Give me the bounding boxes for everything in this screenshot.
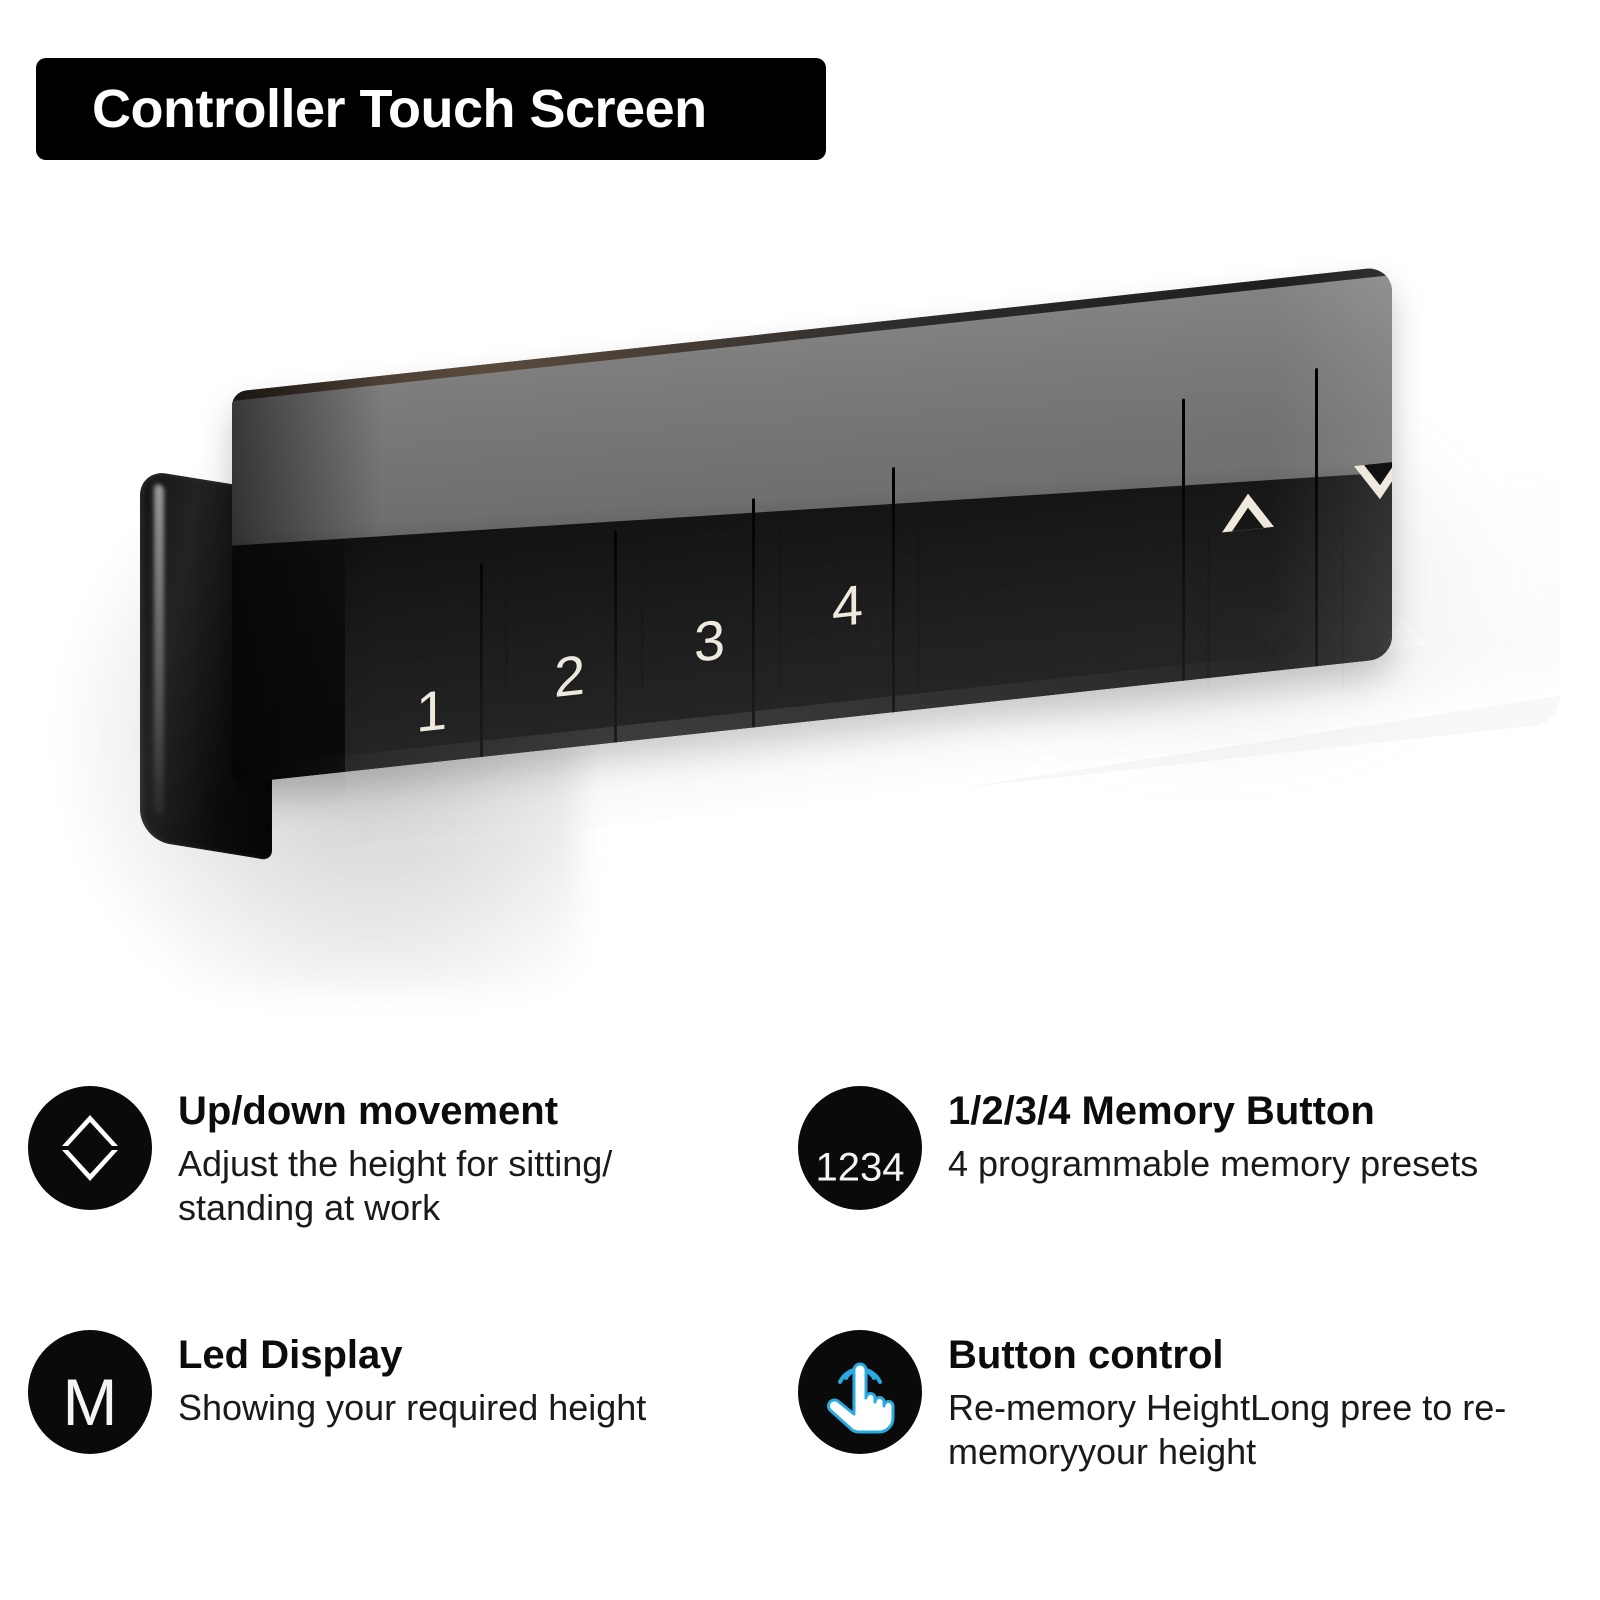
reflection-band <box>345 632 1560 855</box>
page-title: Controller Touch Screen <box>92 78 707 140</box>
reflection-key-4: 4 <box>857 596 886 659</box>
reflection-key-3: 3 <box>719 591 748 654</box>
reflection-divider-6 <box>1341 480 1344 690</box>
touch-hand-icon <box>798 1330 922 1454</box>
memory-presets-icon-label: 1234 <box>816 1145 905 1190</box>
feature-description: Showing your required height <box>178 1386 646 1430</box>
reflection-key-2: 2 <box>579 588 608 651</box>
reflection-key-1: 1 <box>441 585 470 648</box>
up-down-arrows-icon <box>28 1086 152 1210</box>
reflection-divider-5 <box>1207 489 1210 689</box>
feature-description: 4 programmable memory presets <box>948 1142 1478 1186</box>
reflection-divider-4 <box>917 509 920 689</box>
endcap-highlight <box>154 484 164 816</box>
memory-presets-icon: 1234 <box>798 1086 922 1210</box>
feature-text-block: Button control Re-memory HeightLong pree… <box>948 1330 1588 1474</box>
feature-title: Led Display <box>178 1334 646 1376</box>
led-display-icon: M <box>28 1330 152 1454</box>
feature-title: Up/down movement <box>178 1090 748 1132</box>
feature-title: 1/2/3/4 Memory Button <box>948 1090 1478 1132</box>
feature-text-block: 1/2/3/4 Memory Button 4 programmable mem… <box>948 1086 1478 1186</box>
page-title-banner: Controller Touch Screen <box>36 58 826 160</box>
feature-list: Up/down movement Adjust the height for s… <box>0 1068 1600 1568</box>
feature-text-block: Led Display Showing your required height <box>178 1330 646 1430</box>
reflection-divider-2 <box>641 528 644 688</box>
reflection-divider-3 <box>779 518 782 688</box>
reflection-divider-1 <box>505 537 508 687</box>
controller-device: 1 2 3 4 1 2 3 4 <box>140 310 1400 910</box>
feature-item-memory-button: 1234 1/2/3/4 Memory Button 4 programmabl… <box>798 1086 1588 1210</box>
feature-title: Button control <box>948 1334 1588 1376</box>
feature-description: Re-memory HeightLong pree to re-memoryyo… <box>948 1386 1588 1474</box>
feature-item-led-display: M Led Display Showing your required heig… <box>28 1330 748 1454</box>
feature-item-button-control: Button control Re-memory HeightLong pree… <box>798 1330 1588 1474</box>
feature-description: Adjust the height for sitting/ standing … <box>178 1142 748 1230</box>
reflection-down-arrow <box>1379 612 1427 650</box>
feature-item-up-down-movement: Up/down movement Adjust the height for s… <box>28 1086 748 1230</box>
led-display-icon-label: M <box>63 1364 118 1440</box>
feature-text-block: Up/down movement Adjust the height for s… <box>178 1086 748 1230</box>
product-hero-image: 1 2 3 4 1 2 3 4 <box>0 250 1600 1070</box>
reflection-up-arrow <box>1247 611 1295 649</box>
